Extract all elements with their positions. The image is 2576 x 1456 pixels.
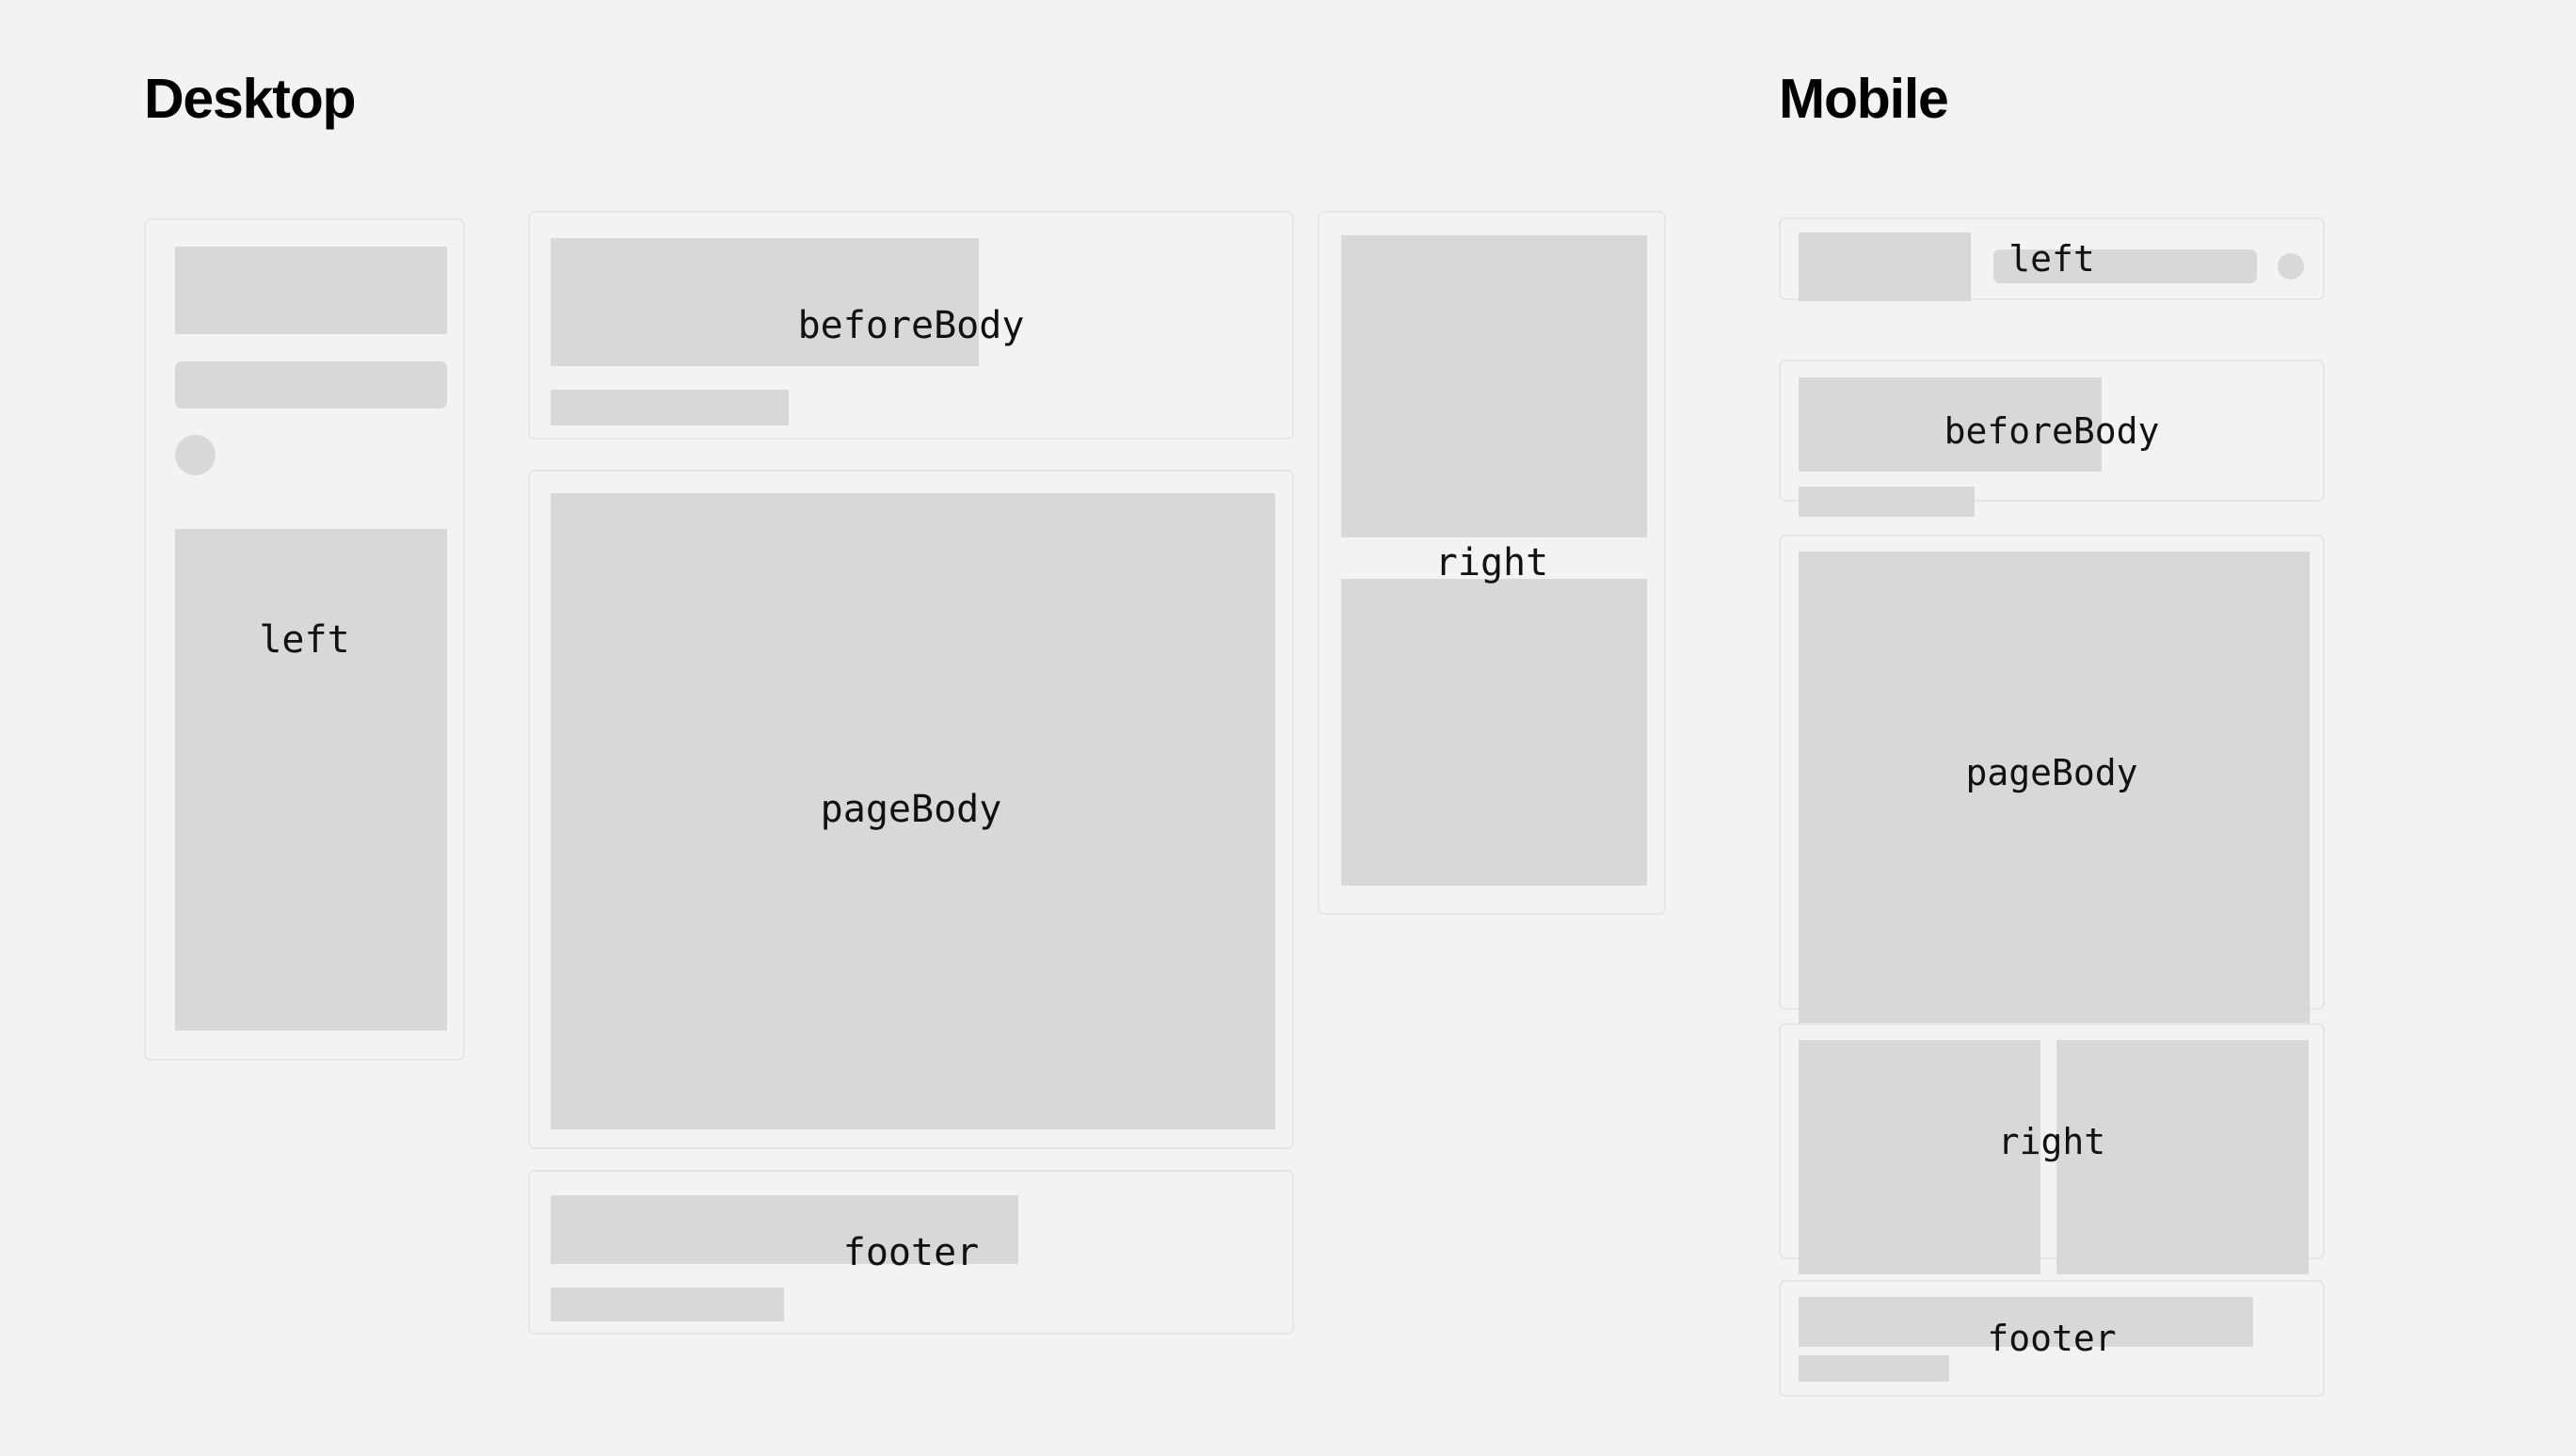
skeleton-block-bar-small — [551, 1288, 784, 1321]
mobile-footer-region-panel[interactable] — [1779, 1280, 2325, 1397]
skeleton-block-rect-top — [1341, 235, 1647, 537]
skeleton-block-rect-tall — [175, 247, 447, 334]
mobile-column-heading: Mobile — [1779, 72, 1948, 127]
desktop-beforebody-region-panel[interactable] — [528, 211, 1294, 440]
desktop-column-heading: Desktop — [144, 72, 355, 127]
skeleton-block-rect-bottom — [1341, 579, 1647, 886]
skeleton-block-rect-fill — [551, 493, 1275, 1129]
skeleton-block-rect-wide — [551, 238, 979, 366]
mobile-pagebody-region-panel[interactable] — [1779, 535, 2325, 1010]
mobile-left-region-panel[interactable] — [1779, 217, 2325, 300]
desktop-footer-region-panel[interactable] — [528, 1170, 1294, 1335]
mobile-beforebody-region-panel[interactable] — [1779, 360, 2325, 502]
skeleton-block-rect-left — [1799, 1040, 2040, 1274]
desktop-right-region-panel[interactable] — [1318, 211, 1666, 915]
skeleton-block-bar-small — [1799, 1355, 1949, 1382]
skeleton-block-rect-fill — [1799, 552, 2310, 1042]
skeleton-block-rect-right — [2056, 1040, 2309, 1274]
skeleton-block-bar-wide — [551, 1195, 1018, 1264]
layout-preview-stage: Desktop left beforeBody pageBody footer … — [0, 0, 2576, 1456]
skeleton-block-rect-large — [175, 529, 447, 1031]
skeleton-block-bar-small — [1799, 487, 1975, 517]
skeleton-block-bar-small — [551, 390, 789, 425]
desktop-pagebody-region-panel[interactable] — [528, 470, 1294, 1149]
skeleton-block-dot — [2278, 253, 2304, 280]
mobile-right-region-panel[interactable] — [1779, 1023, 2325, 1259]
skeleton-block-dot — [175, 435, 216, 475]
desktop-left-region-panel[interactable] — [144, 218, 465, 1061]
skeleton-block-pill-bar — [175, 361, 447, 408]
skeleton-block-rect-wide — [1799, 377, 2102, 472]
skeleton-block-pill-bar — [1993, 249, 2257, 283]
skeleton-block-rect-tall — [1799, 232, 1971, 301]
skeleton-block-bar-wide — [1799, 1297, 2253, 1347]
